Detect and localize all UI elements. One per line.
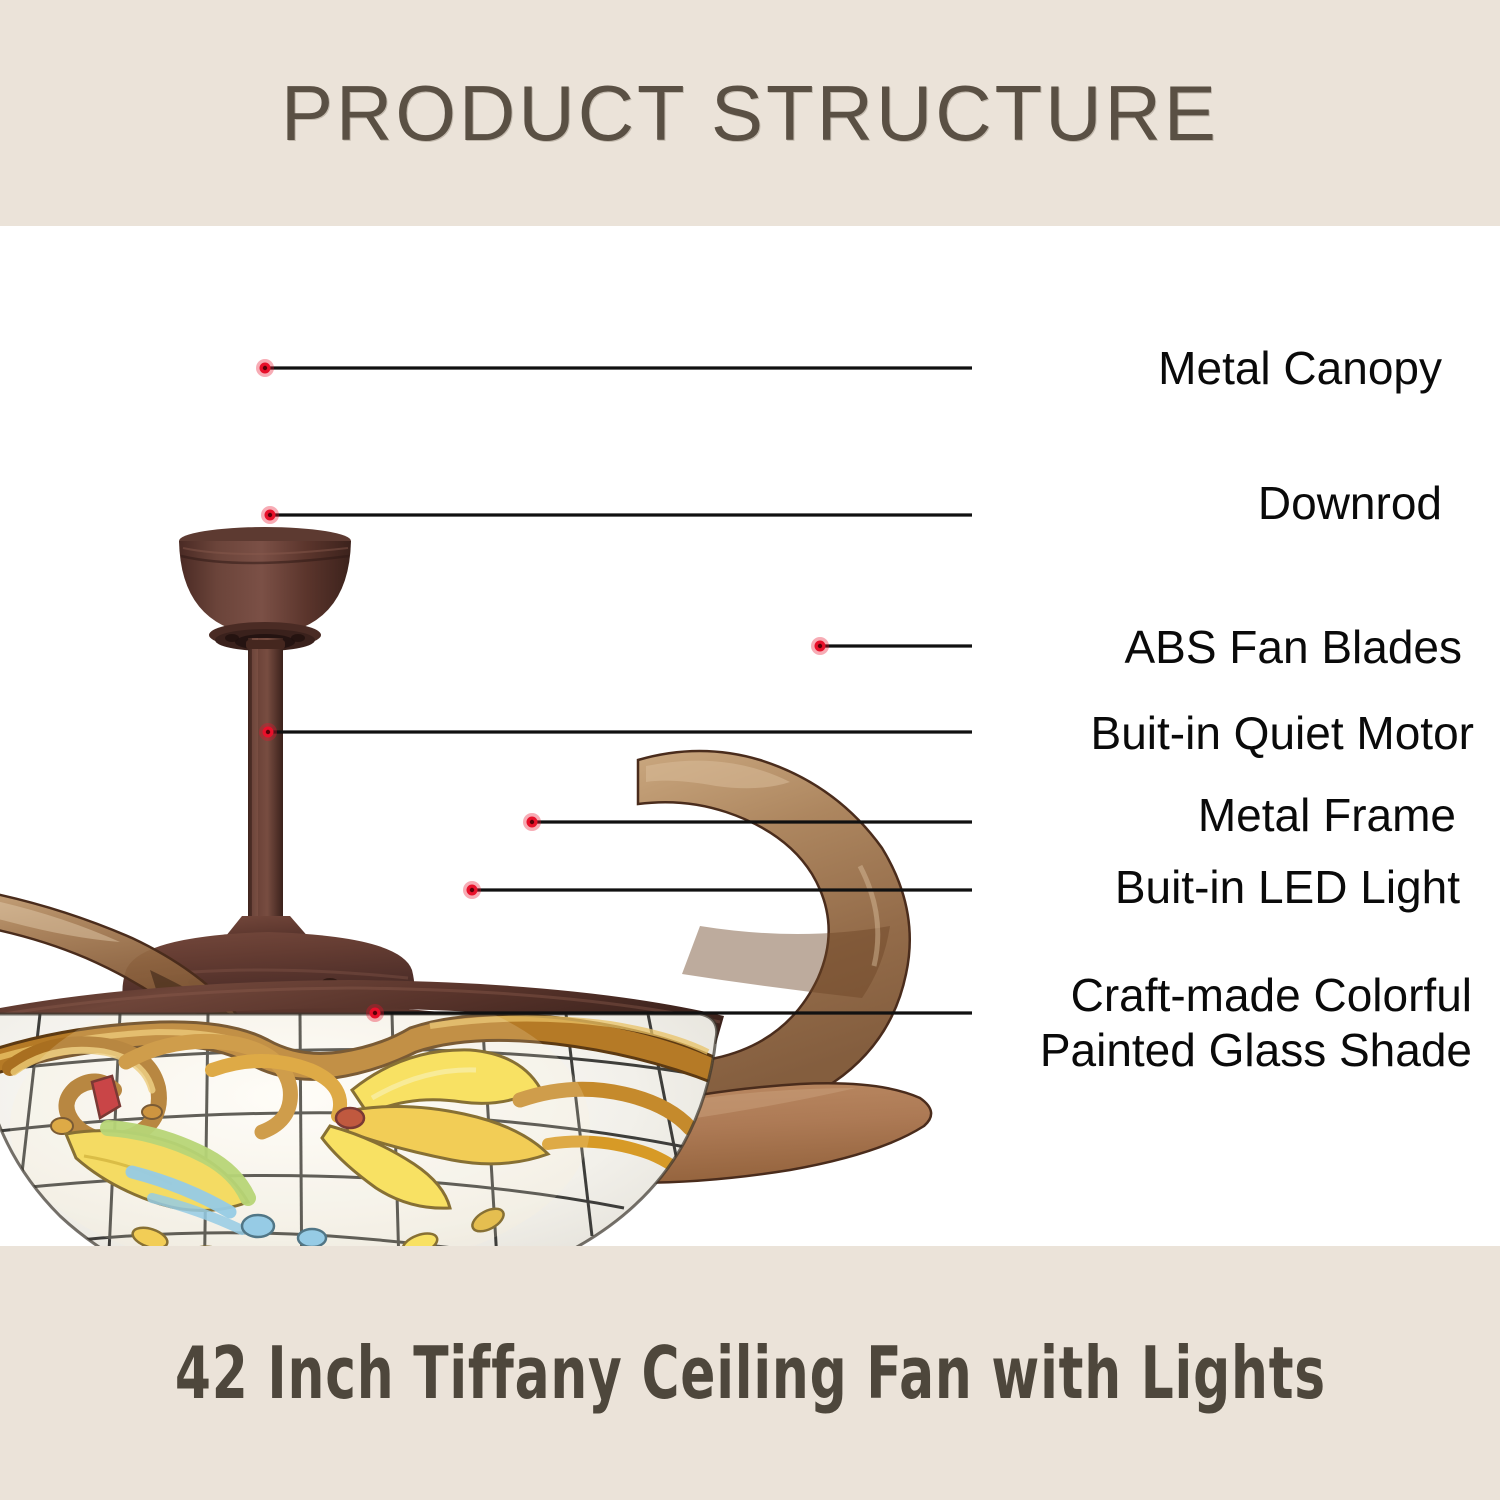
metal-canopy-graphic [179, 527, 351, 651]
callout-label-glass-shade-line1: Craft-made Colorful [1002, 968, 1472, 1023]
anchor-dot-quiet-motor [259, 723, 277, 741]
anchor-dot-abs-fan-blades [811, 637, 829, 655]
painted-glass-shade [0, 976, 717, 1246]
callout-anchor-dots [256, 359, 829, 1022]
product-name-title: 42 Inch Tiffany Ceiling Fan with Lights [174, 1331, 1325, 1415]
callout-label-metal-canopy: Metal Canopy [1158, 343, 1442, 394]
anchor-dot-glass-shade [366, 1004, 384, 1022]
callout-label-glass-shade: Craft-made Colorful Painted Glass Shade [1002, 968, 1472, 1078]
callout-label-quiet-motor: Buit-in Quiet Motor [1091, 708, 1474, 759]
callout-label-abs-fan-blades: ABS Fan Blades [1124, 622, 1462, 673]
product-structure-diagram: Metal Canopy Downrod ABS Fan Blades Buit… [0, 226, 1500, 1246]
callout-label-glass-shade-line2: Painted Glass Shade [1002, 1023, 1472, 1078]
footer-banner: 42 Inch Tiffany Ceiling Fan with Lights [0, 1246, 1500, 1500]
callout-label-metal-frame: Metal Frame [1198, 790, 1456, 841]
callout-label-downrod: Downrod [1258, 478, 1442, 529]
callout-label-led-light: Buit-in LED Light [1115, 862, 1460, 913]
page-title: PRODUCT STRUCTURE [281, 68, 1219, 159]
anchor-dot-led-light [463, 881, 481, 899]
downrod-graphic [246, 638, 285, 923]
anchor-dot-metal-frame [523, 813, 541, 831]
header-banner: PRODUCT STRUCTURE [0, 0, 1500, 226]
anchor-dot-downrod [261, 506, 279, 524]
anchor-dot-metal-canopy [256, 359, 274, 377]
